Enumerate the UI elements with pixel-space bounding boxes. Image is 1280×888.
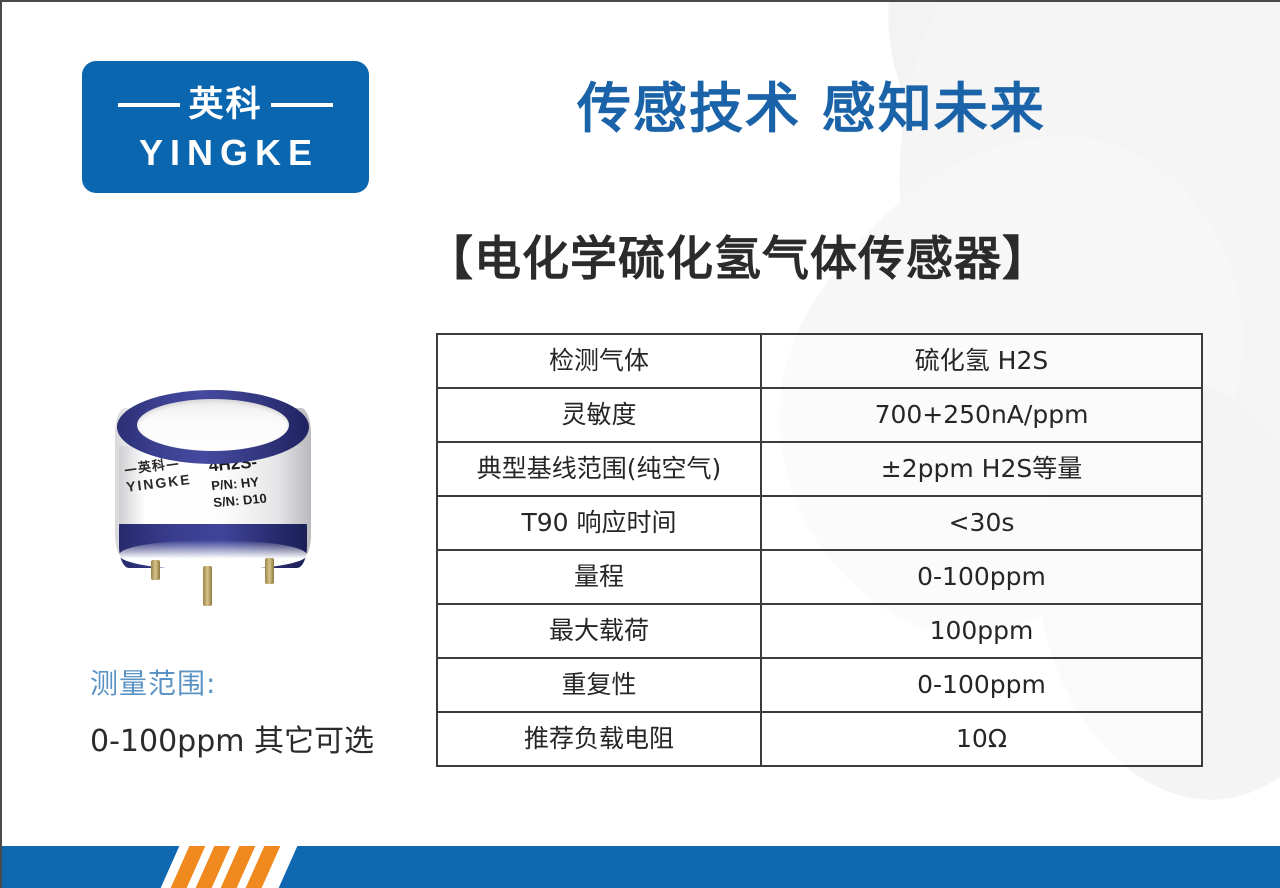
sensor-base-shadow	[119, 540, 307, 570]
swoosh-shape-1	[834, 0, 1280, 358]
sensor-label-serial-number: S/N: D10	[213, 492, 268, 511]
table-row: 典型基线范围(纯空气) ±2ppm H2S等量	[437, 442, 1202, 496]
spec-value: 硫化氢 H2S	[761, 334, 1202, 388]
logo-dash-left-icon	[118, 103, 180, 107]
sensor-membrane	[137, 399, 289, 451]
table-row: 灵敏度 700+250nA/ppm	[437, 388, 1202, 442]
spec-value: ±2ppm H2S等量	[761, 442, 1202, 496]
spec-label: 推荐负载电阻	[437, 712, 761, 766]
spec-value: 0-100ppm	[761, 658, 1202, 712]
sensor-pin-2	[265, 558, 274, 584]
table-row: T90 响应时间 <30s	[437, 496, 1202, 550]
sensor-pin-1	[203, 566, 212, 606]
sensor-pin-3	[151, 560, 160, 580]
spec-label: 典型基线范围(纯空气)	[437, 442, 761, 496]
spec-value: 100ppm	[761, 604, 1202, 658]
page-title: 【电化学硫化氢气体传感器】	[426, 220, 1050, 289]
spec-label: 最大载荷	[437, 604, 761, 658]
measure-range-label: 测量范围:	[90, 662, 216, 702]
spec-label: 重复性	[437, 658, 761, 712]
footer-stripe-panel	[161, 846, 298, 888]
sensor-illustration: —英科— YINGKE 4H2S- P/N: HY S/N: D10	[115, 390, 311, 575]
specification-table-body: 检测气体 硫化氢 H2S 灵敏度 700+250nA/ppm 典型基线范围(纯空…	[437, 334, 1202, 766]
spec-sheet-page: 英科 YINGKE 传感技术 感知未来 【电化学硫化氢气体传感器】 —英科— Y…	[0, 0, 1280, 888]
table-row: 重复性 0-100ppm	[437, 658, 1202, 712]
table-row: 最大载荷 100ppm	[437, 604, 1202, 658]
table-row: 推荐负载电阻 10Ω	[437, 712, 1202, 766]
spec-label: T90 响应时间	[437, 496, 761, 550]
logo-en-text: YINGKE	[132, 135, 319, 171]
spec-label: 灵敏度	[437, 388, 761, 442]
table-row: 检测气体 硫化氢 H2S	[437, 334, 1202, 388]
spec-value: 0-100ppm	[761, 550, 1202, 604]
spec-value: 700+250nA/ppm	[761, 388, 1202, 442]
logo-cn-text: 英科	[188, 88, 262, 123]
table-row: 量程 0-100ppm	[437, 550, 1202, 604]
brand-logo: 英科 YINGKE	[82, 61, 369, 193]
logo-dash-right-icon	[271, 103, 333, 107]
logo-cn-row: 英科	[118, 88, 332, 123]
header-tagline: 传感技术 感知未来	[577, 64, 1046, 143]
footer-bar	[2, 846, 1280, 888]
spec-label: 量程	[437, 550, 761, 604]
spec-value: 10Ω	[761, 712, 1202, 766]
spec-label: 检测气体	[437, 334, 761, 388]
product-photo: —英科— YINGKE 4H2S- P/N: HY S/N: D10	[97, 382, 327, 622]
measure-range-value: 0-100ppm 其它可选	[90, 716, 374, 760]
spec-value: <30s	[761, 496, 1202, 550]
specification-table: 检测气体 硫化氢 H2S 灵敏度 700+250nA/ppm 典型基线范围(纯空…	[436, 333, 1203, 767]
